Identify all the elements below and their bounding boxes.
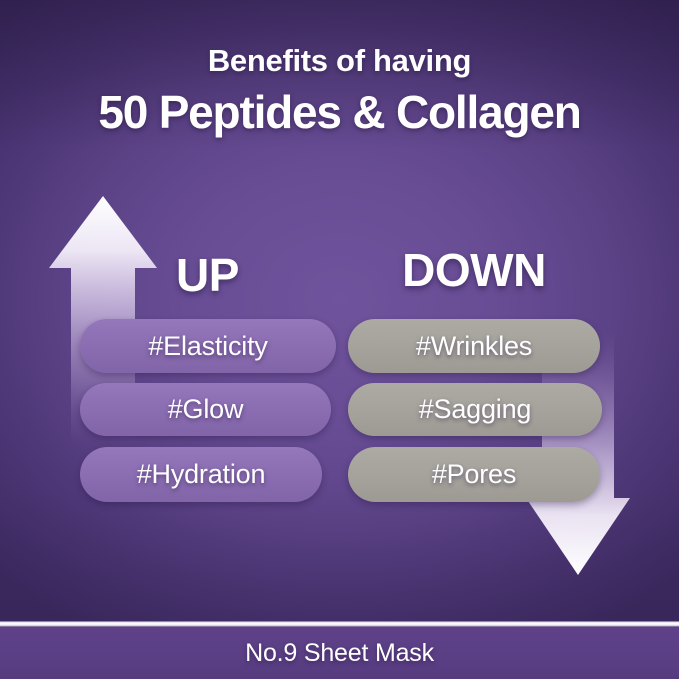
tag-pill-down: #Wrinkles (348, 319, 600, 373)
tag-pill-down: #Pores (348, 447, 600, 502)
page-title: 50 Peptides & Collagen (0, 85, 679, 139)
tag-pill-up: #Elasticity (80, 319, 336, 373)
product-name-label: No.9 Sheet Mask (245, 639, 434, 668)
footer-band: No.9 Sheet Mask (0, 627, 679, 679)
column-heading-down: DOWN (340, 243, 608, 297)
tag-pill-down: #Sagging (348, 383, 602, 436)
tag-pill-up: #Glow (80, 383, 331, 436)
header-subtitle: Benefits of having (0, 44, 679, 79)
tag-pill-up: #Hydration (80, 447, 322, 502)
footer-divider (0, 621, 679, 627)
product-benefits-poster: Benefits of having 50 Peptides & Collage… (0, 0, 679, 679)
poster-header: Benefits of having 50 Peptides & Collage… (0, 44, 679, 139)
